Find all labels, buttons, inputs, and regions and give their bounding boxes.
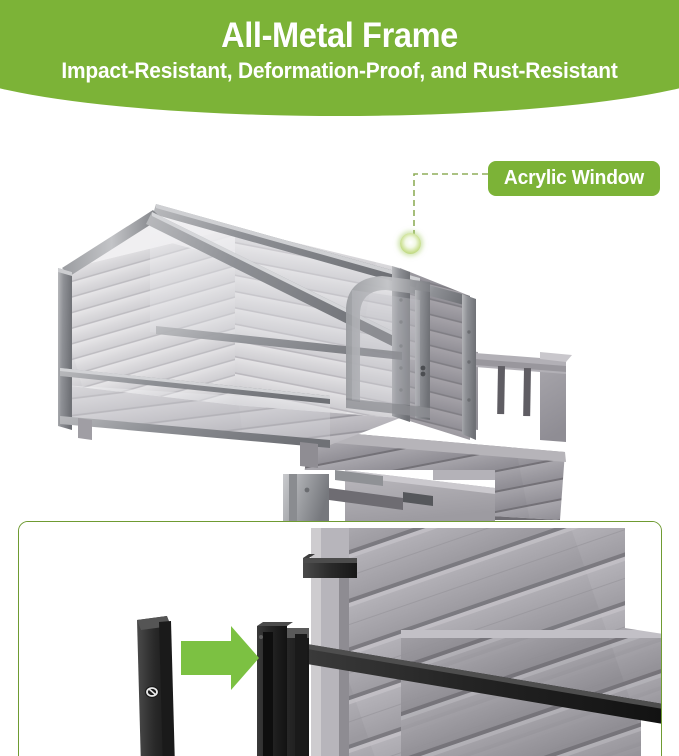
product-infographic: All-Metal Frame Impact-Resistant, Deform… <box>0 0 679 756</box>
page-title: All-Metal Frame <box>24 16 655 56</box>
acrylic-window-callout-text: Acrylic Window <box>504 167 644 190</box>
detail-photo-overhang <box>283 470 495 522</box>
overhang-frame-closeup <box>283 470 495 522</box>
wooden-wall-panel <box>311 528 662 756</box>
detail-panel <box>18 521 662 756</box>
page-subtitle: Impact-Resistant, Deformation-Proof, and… <box>17 57 662 85</box>
header-banner: All-Metal Frame Impact-Resistant, Deform… <box>0 0 679 132</box>
metal-post-install-illustration <box>19 522 662 756</box>
acrylic-window-callout-label[interactable]: Acrylic Window <box>488 161 660 196</box>
loose-metal-post <box>137 616 175 756</box>
screw-hole-icon <box>145 686 159 698</box>
arched-door-frame <box>346 276 430 420</box>
deck-railing <box>462 350 572 442</box>
acrylic-window-marker-dot <box>400 233 421 254</box>
